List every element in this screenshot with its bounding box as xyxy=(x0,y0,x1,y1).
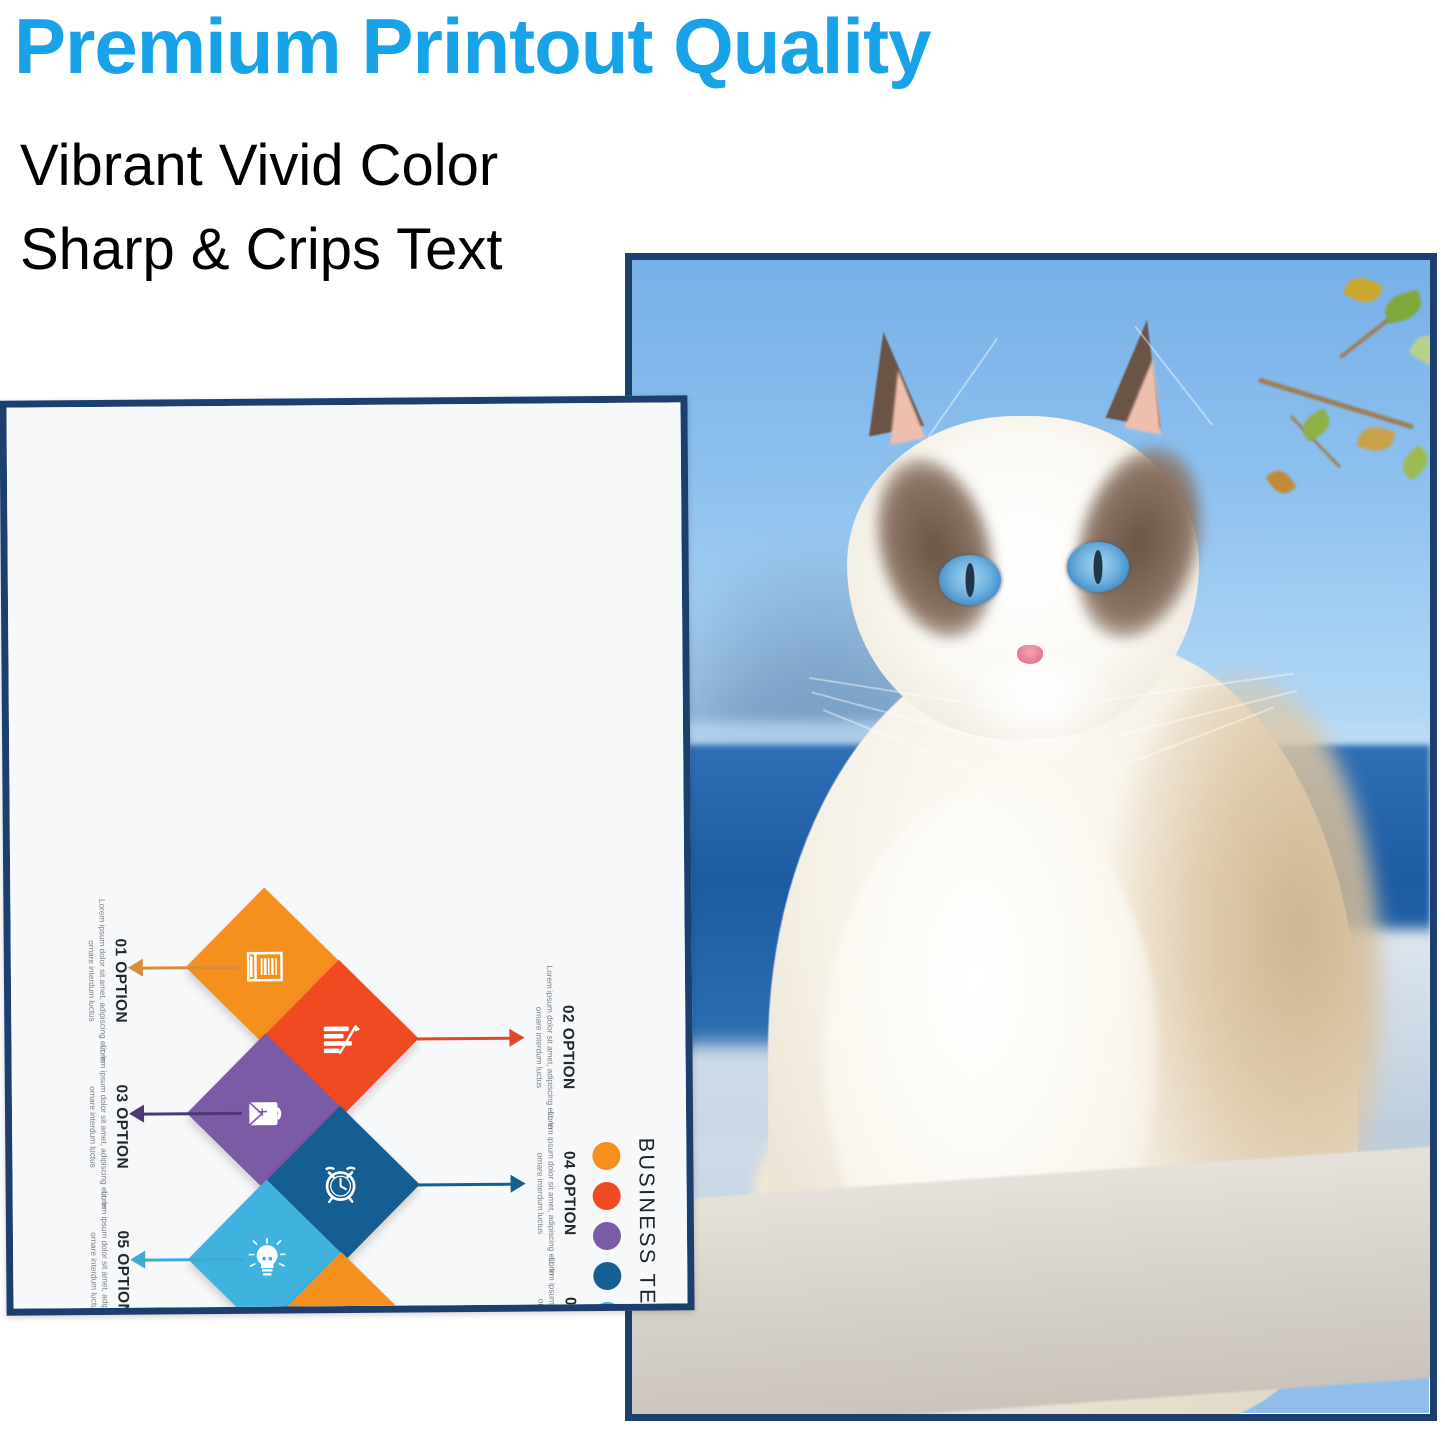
cat-eye-right xyxy=(1067,542,1129,592)
option-body-04: Lorem ipsum dolor sit amet, adipiscing e… xyxy=(534,1109,557,1277)
cat-photo xyxy=(625,253,1437,1421)
option-number-05: 05 OPTION xyxy=(113,1189,132,1309)
legend-title: BUSINESS TEMPLATE xyxy=(633,1138,660,1309)
cat-muzzle xyxy=(959,658,1119,762)
briefcase-icon xyxy=(241,1087,291,1137)
option-number-03: 03 OPTION xyxy=(111,1043,130,1211)
magnifier-icon xyxy=(317,1306,367,1309)
legend-dot-2 xyxy=(593,1182,621,1210)
option-caption-06: 06 OPTION Lorem ipsum dolor sit amet, ad… xyxy=(535,1255,579,1308)
legend-dot-1 xyxy=(592,1142,620,1170)
option-body-06: Lorem ipsum dolor sit amet, adipiscing e… xyxy=(535,1255,558,1308)
option-caption-01: 01 OPTION Lorem ipsum dolor sit amet, ad… xyxy=(85,897,129,1065)
option-caption-02: 02 OPTION Lorem ipsum dolor sit amet, ad… xyxy=(533,963,577,1131)
option-body-02: Lorem ipsum dolor sit amet, adipiscing e… xyxy=(533,963,556,1131)
legend: BUSINESS TEMPLATE xyxy=(592,1137,687,1308)
option-number-02: 02 OPTION xyxy=(558,963,577,1131)
option-body-03: Lorem ipsum dolor sit amet, adipiscing e… xyxy=(86,1043,109,1211)
option-caption-03: 03 OPTION Lorem ipsum dolor sit amet, ad… xyxy=(86,1043,130,1211)
option-number-04: 04 OPTION xyxy=(559,1109,578,1277)
alarm-clock-icon xyxy=(315,1160,365,1210)
arrow-04 xyxy=(413,1183,513,1186)
option-body-01: Lorem ipsum dolor sit amet, adipiscing e… xyxy=(85,897,108,1065)
document-barcode-icon xyxy=(240,941,290,991)
option-number-01: 01 OPTION xyxy=(110,897,129,1065)
option-number-06: 06 OPTION xyxy=(560,1255,579,1308)
legend-dot-3 xyxy=(593,1222,621,1250)
option-body-05: Lorem ipsum dolor sit amet, adipiscing e… xyxy=(88,1189,111,1309)
legend-dot-5 xyxy=(594,1302,622,1309)
option-caption-04: 04 OPTION Lorem ipsum dolor sit amet, ad… xyxy=(534,1109,578,1277)
subtitle-line-1: Vibrant Vivid Color xyxy=(20,133,498,199)
legend-dot-4 xyxy=(593,1262,621,1290)
page-title: Premium Printout Quality xyxy=(14,2,1414,90)
option-caption-05: 05 OPTION Lorem ipsum dolor sit amet, ad… xyxy=(88,1189,132,1309)
lightbulb-icon xyxy=(242,1233,292,1283)
arrow-02 xyxy=(411,1037,511,1040)
infographic-poster: 01 OPTION Lorem ipsum dolor sit amet, ad… xyxy=(0,395,695,1315)
subtitle-line-2: Sharp & Crips Text xyxy=(20,217,502,283)
cat-photo-canvas xyxy=(632,260,1430,1414)
bar-chart-icon xyxy=(314,1014,364,1064)
infographic-canvas: 01 OPTION Lorem ipsum dolor sit amet, ad… xyxy=(6,402,687,1308)
